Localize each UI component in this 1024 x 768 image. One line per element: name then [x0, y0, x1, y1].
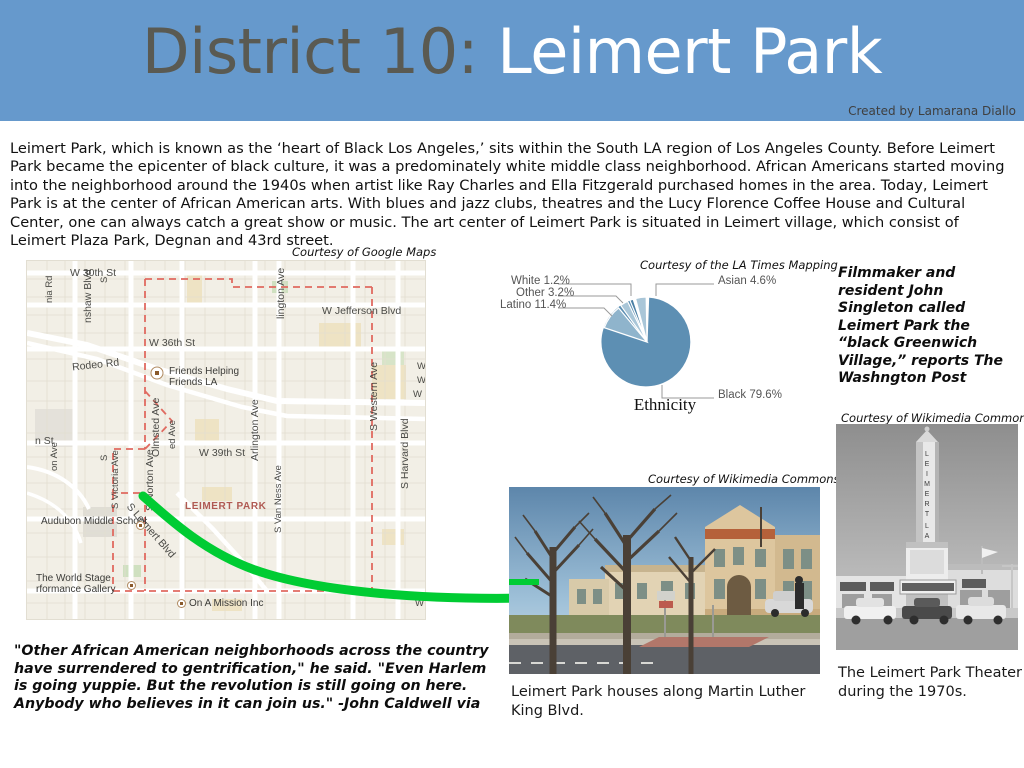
map-label-svictoria: S Victoria Ave [110, 450, 121, 509]
svg-text:A: A [925, 533, 930, 540]
caldwell-quote: "Other African American neighborhoods ac… [14, 643, 492, 713]
map-label-w-partial1: W [417, 361, 426, 372]
map-label-arlington-top: lington Ave [275, 268, 287, 319]
map-label-svanness: S Van Ness Ave [273, 465, 284, 533]
pie-courtesy-label: Courtesy of the LA Times Mapping [640, 258, 838, 272]
svg-text:E: E [925, 491, 930, 498]
map-poi-icon-on-a-mission [177, 599, 186, 608]
map-poi-world-stage[interactable]: The World Stagerformance Gallery [36, 573, 115, 595]
pie-label-latino: Latino 11.4% [500, 299, 566, 311]
pie-chart-title: Ethnicity [500, 395, 830, 415]
svg-text:I: I [926, 471, 928, 478]
map-label-w39th: W 39th St [199, 447, 245, 459]
map-poi-icon-audubon [136, 521, 145, 530]
intro-paragraph: Leimert Park, which is known as the ‘hea… [10, 140, 1010, 250]
map-label-w-partial2: W [417, 375, 426, 386]
map-label-w36th: W 36th St [149, 337, 195, 349]
pie-label-white: White 1.2% [511, 275, 570, 287]
map-label-sharvard: S Harvard Blvd [399, 418, 411, 489]
pie-label-other: Other 3.2% [516, 287, 574, 299]
map-label-on-ave: on Ave [49, 442, 60, 471]
map-label-arlington: Arlington Ave [249, 399, 261, 461]
theater-photo-graphic: LEI MER TLA [836, 424, 1018, 650]
map-poi-audubon[interactable]: Audubon Middle School [41, 516, 147, 527]
page-title-district: District 10: [142, 15, 478, 88]
svg-text:M: M [924, 481, 930, 488]
houses-courtesy-label: Courtesy of Wikimedia Commons [648, 472, 840, 486]
map-poi-friends-helping-friends[interactable]: Friends HelpingFriends LA [169, 366, 239, 388]
houses-photo-caption: Leimert Park houses along Martin Luther … [511, 683, 831, 721]
svg-text:L: L [925, 523, 929, 530]
svg-text:T: T [925, 511, 930, 518]
map-label-snorton: S Norton Ave [144, 449, 156, 511]
theater-photo-caption: The Leimert Park Theater during the 1970… [838, 664, 1024, 702]
map-poi-on-a-mission[interactable]: On A Mission Inc [189, 598, 263, 609]
map-label-w3-partial: W 3 [413, 389, 426, 400]
svg-text:L: L [925, 451, 929, 458]
byline: Created by Lamarana Diallo [848, 104, 1016, 118]
map-label-ed-ave: ed Ave [167, 420, 178, 449]
theater-photo[interactable]: LEI MER TLA [836, 424, 1018, 650]
map-label-s-partial: S [99, 277, 110, 283]
map-label-swestern: S Western Ave [368, 362, 380, 431]
pie-label-asian: Asian 4.6% [718, 275, 776, 287]
map-label-olmsted: Olmsted Ave [150, 398, 162, 457]
map-label-s-partial2: S [99, 455, 110, 461]
map-label-crenshaw: nshaw Blvd [82, 269, 94, 323]
houses-photo-graphic [509, 487, 820, 674]
page-title: District 10: Leimert Park [0, 18, 1024, 86]
singleton-quote: Filmmaker and resident John Singleton ca… [838, 265, 1018, 388]
theater-courtesy-label: Courtesy of Wikimedia Commons [841, 411, 1024, 425]
map-label-leimert-park: LEIMERT PARK [185, 501, 266, 512]
map-courtesy-label: Courtesy of Google Maps [292, 245, 436, 259]
page-title-name: Leimert Park [478, 15, 882, 88]
houses-photo[interactable] [509, 487, 820, 674]
map-poi-icon-world-stage [127, 581, 136, 590]
google-map-figure[interactable]: W 30th St W Jefferson Blvd W 36th St Rod… [26, 260, 426, 620]
svg-text:R: R [924, 501, 929, 508]
map-label-wv-partial: W V [415, 598, 426, 609]
map-label-nia-rd: nia Rd [44, 276, 55, 303]
svg-text:E: E [925, 461, 930, 468]
map-label-jefferson: W Jefferson Blvd [322, 305, 401, 317]
